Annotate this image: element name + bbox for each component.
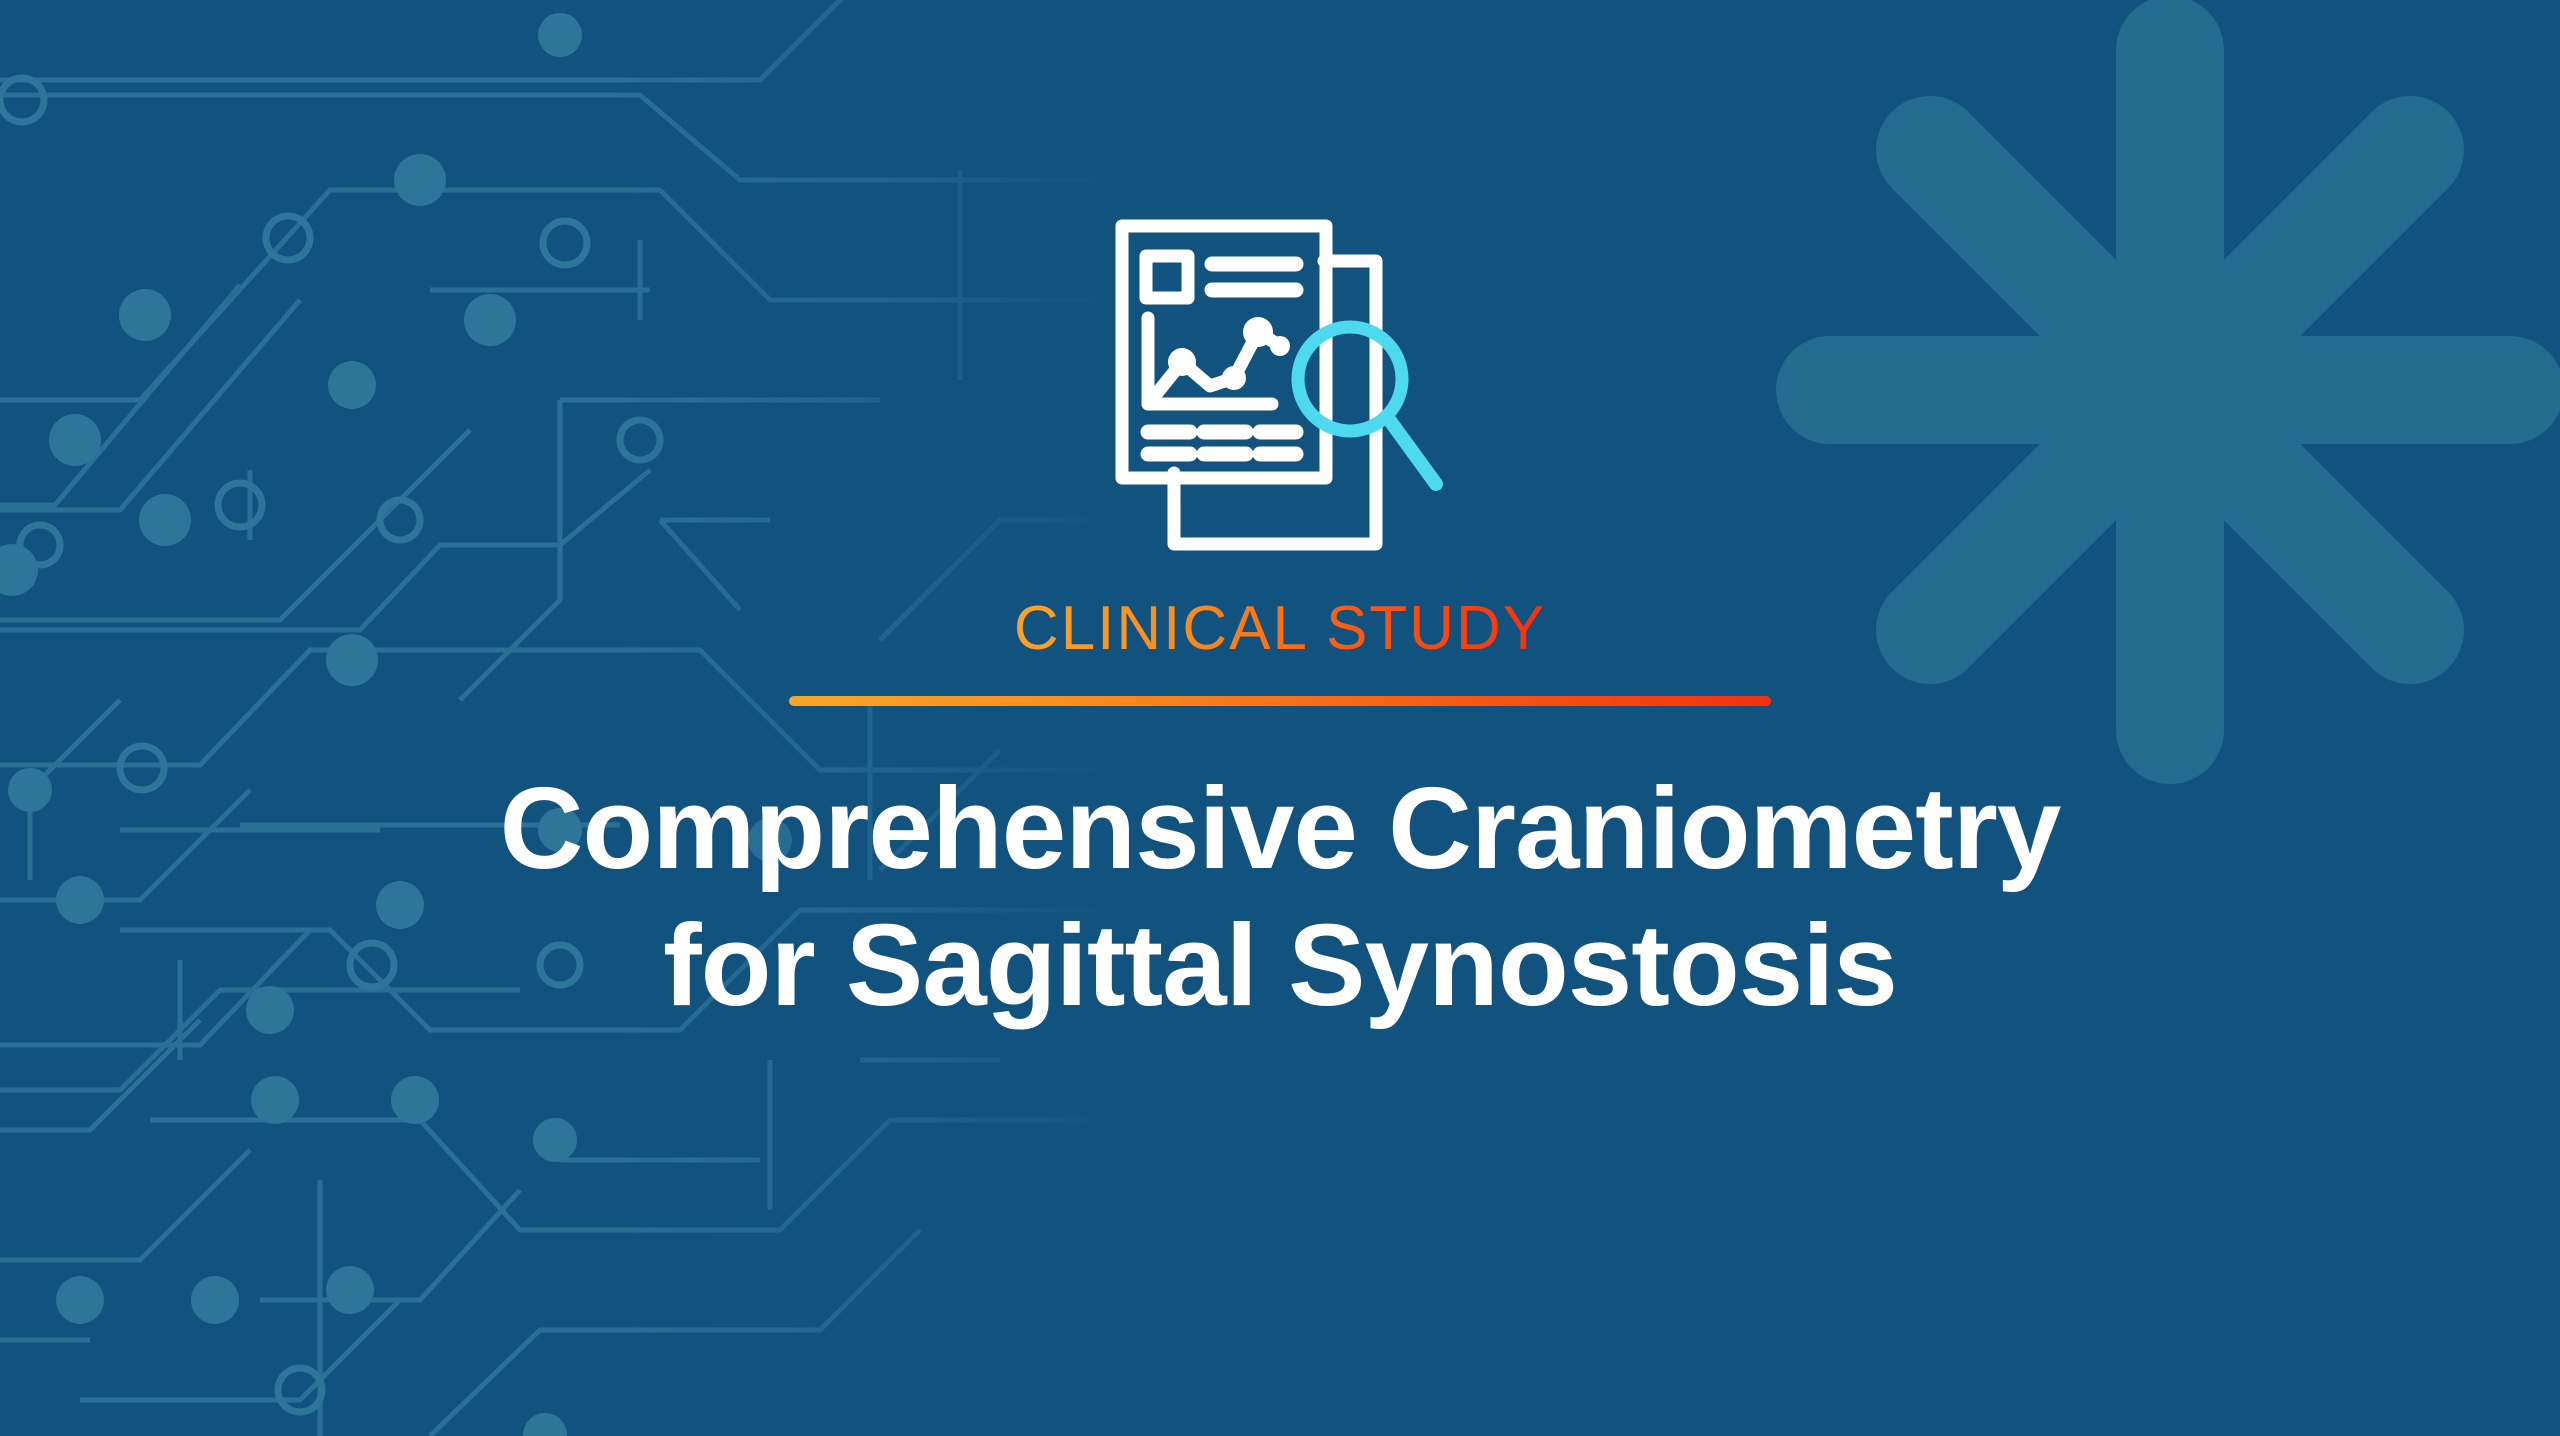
document-chart-magnifier-icon (1100, 196, 1460, 568)
eyebrow-label: CLINICAL STUDY (1014, 598, 1546, 660)
gradient-divider (789, 696, 1771, 706)
line-chart-with-nodes (1158, 317, 1290, 392)
thumbnail-square (1146, 256, 1188, 298)
title-card: CLINICAL STUDY Comprehensive Craniometry… (0, 0, 2560, 1436)
page-title-line-2: for Sagittal Synostosis (280, 897, 2280, 1034)
page-title: Comprehensive Craniometry for Sagittal S… (280, 760, 2280, 1034)
page-title-line-1: Comprehensive Craniometry (280, 760, 2280, 897)
magnifying-glass (1298, 327, 1436, 484)
